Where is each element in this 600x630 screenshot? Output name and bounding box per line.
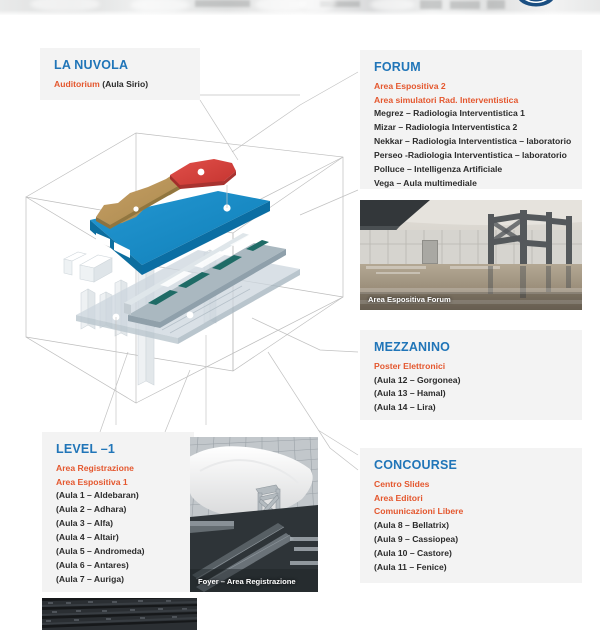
concourse-item-2: (Aula 10 – Castore) bbox=[374, 547, 570, 561]
forum-highlight-0: Area Espositiva 2 bbox=[374, 80, 570, 94]
level1-highlight-0: Area Registrazione bbox=[56, 462, 182, 476]
photo-auditorium-artwork bbox=[42, 598, 197, 630]
concourse-highlight-2: Comunicazioni Libere bbox=[374, 505, 570, 519]
photo-caption-forum: Area Espositiva Forum bbox=[368, 295, 451, 304]
page-root: LA NUVOLA Auditorium (Aula Sirio) FORUM … bbox=[0, 0, 600, 630]
forum-item-0: Megrez – Radiologia Interventistica 1 bbox=[374, 107, 570, 121]
concourse-item-0: (Aula 8 – Bellatrix) bbox=[374, 519, 570, 533]
panel-title-level-minus-1: LEVEL –1 bbox=[56, 442, 182, 458]
concourse-highlight-0: Centro Slides bbox=[374, 478, 570, 492]
top-banner-image bbox=[0, 0, 600, 15]
panel-title-mezzanino: MEZZANINO bbox=[374, 340, 570, 356]
panel-forum: FORUM Area Espositiva 2 Area simulatori … bbox=[360, 50, 582, 189]
level1-item-5: (Aula 6 – Antares) bbox=[56, 559, 182, 573]
mezzanino-item-2: (Aula 14 – Lira) bbox=[374, 401, 570, 415]
forum-item-2: Nekkar – Radiologia Interventistica – la… bbox=[374, 135, 570, 149]
photo-auditorium-seats bbox=[42, 598, 197, 630]
photo-foyer-area-registrazione: Foyer – Area Registrazione bbox=[190, 437, 318, 592]
panel-mezzanino: MEZZANINO Poster Elettronici (Aula 12 – … bbox=[360, 330, 582, 420]
level1-item-3: (Aula 4 – Altair) bbox=[56, 531, 182, 545]
stair-block bbox=[64, 252, 112, 282]
panel-title-concourse: CONCOURSE bbox=[374, 458, 570, 474]
la-nuvola-highlight: Auditorium bbox=[54, 79, 100, 89]
panel-la-nuvola: LA NUVOLA Auditorium (Aula Sirio) bbox=[40, 48, 200, 100]
circular-emblem-logo bbox=[516, 0, 556, 14]
forum-item-4: Polluce – Intelligenza Artificiale bbox=[374, 163, 570, 177]
photo-caption-foyer: Foyer – Area Registrazione bbox=[198, 577, 296, 586]
forum-item-3: Perseo -Radiologia Interventistica – lab… bbox=[374, 149, 570, 163]
concourse-highlight-1: Area Editori bbox=[374, 492, 570, 506]
panel-title-forum: FORUM bbox=[374, 60, 570, 76]
panel-level-minus-1: LEVEL –1 Area Registrazione Area Esposit… bbox=[42, 432, 194, 592]
photo-foyer-artwork bbox=[190, 437, 318, 592]
la-nuvola-subtitle: Auditorium (Aula Sirio) bbox=[54, 78, 188, 92]
level1-item-6: (Aula 7 – Auriga) bbox=[56, 573, 182, 587]
concourse-item-1: (Aula 9 – Cassiopea) bbox=[374, 533, 570, 547]
mezzanino-item-0: (Aula 12 – Gorgonea) bbox=[374, 374, 570, 388]
panel-title-la-nuvola: LA NUVOLA bbox=[54, 58, 188, 74]
la-nuvola-room: (Aula Sirio) bbox=[100, 79, 148, 89]
level1-item-4: (Aula 5 – Andromeda) bbox=[56, 545, 182, 559]
mezzanino-highlight-0: Poster Elettronici bbox=[374, 360, 570, 374]
level1-item-0: (Aula 1 – Aldebaran) bbox=[56, 489, 182, 503]
level1-highlight-1: Area Espositiva 1 bbox=[56, 476, 182, 490]
forum-highlight-1: Area simulatori Rad. Interventistica bbox=[374, 94, 570, 108]
mezzanino-item-1: (Aula 13 – Hamal) bbox=[374, 387, 570, 401]
photo-forum-artwork bbox=[360, 200, 582, 310]
level1-item-1: (Aula 2 – Adhara) bbox=[56, 503, 182, 517]
forum-item-5: Vega – Aula multimediale bbox=[374, 177, 570, 191]
level1-item-2: (Aula 3 – Alfa) bbox=[56, 517, 182, 531]
isometric-exploded-building-diagram bbox=[18, 125, 363, 435]
forum-item-1: Mizar – Radiologia Interventistica 2 bbox=[374, 121, 570, 135]
auditorium-shell-red bbox=[170, 159, 236, 189]
panel-concourse: CONCOURSE Centro Slides Area Editori Com… bbox=[360, 448, 582, 583]
photo-area-espositiva-forum: Area Espositiva Forum bbox=[360, 200, 582, 310]
concourse-item-3: (Aula 11 – Fenice) bbox=[374, 561, 570, 575]
